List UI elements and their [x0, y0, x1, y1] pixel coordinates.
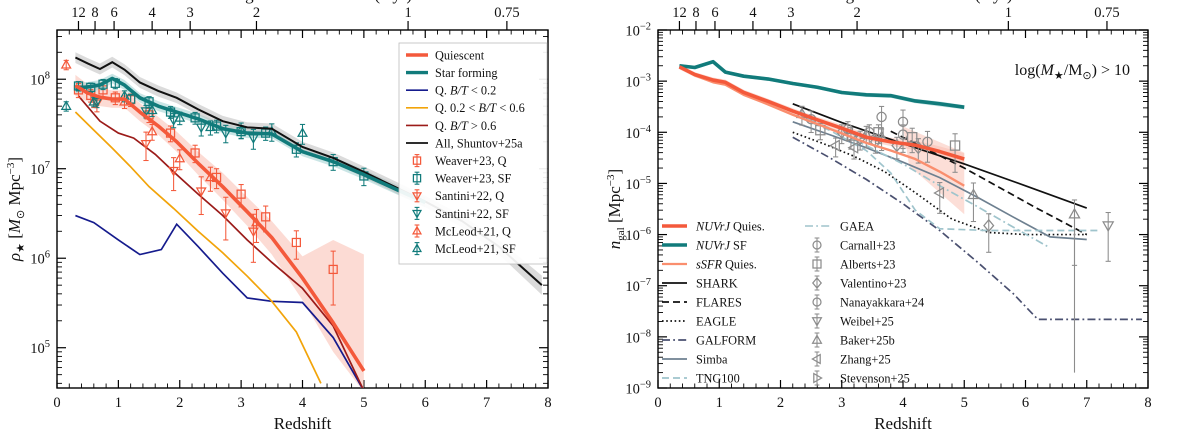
right-panel-xtick-label: 7 [1083, 395, 1090, 411]
points-weibel-25 [1103, 213, 1113, 262]
data-point [830, 141, 839, 151]
legend-label: Weaver+23, Q [435, 154, 507, 168]
left-panel-xtick-label: 3 [238, 395, 245, 411]
curve-gaea [793, 111, 1050, 248]
left-panel-xtick-label: 4 [299, 395, 307, 411]
legend-label: FLARES [696, 295, 742, 309]
legend-item-zhang+25[interactable]: Zhang+25 [812, 352, 890, 366]
right-panel-xtick-label: 5 [961, 395, 968, 411]
right-panel-ytick-label: 10−8 [625, 328, 651, 346]
legend-item-nanayakkara+24[interactable]: Nanayakkara+24 [813, 295, 924, 309]
right-panel-top-axis-title: Age of the Universe (Gyr) [833, 0, 1012, 4]
legend-marker [814, 374, 822, 383]
right-panel-ytick-label: 10−2 [625, 22, 651, 40]
right-panel-age-tick-label: 4 [749, 5, 757, 21]
legend-label: Valentino+23 [840, 276, 906, 290]
left-panel-age-tick-label: 8 [91, 5, 98, 21]
right-panel-ytick-label: 10−9 [625, 380, 651, 398]
legend-item-stevenson+25[interactable]: Stevenson+25 [814, 371, 910, 385]
right-panel-data [679, 60, 1141, 373]
curve-nuvrj-quiescent [679, 67, 964, 159]
right-panel-xtick-label: 2 [777, 395, 784, 411]
right-panel-legend: NUVrJ Quies.NUVrJ SFsSFR Quies.SHARKFLAR… [662, 219, 924, 385]
right-panel-xtick-label: 3 [838, 395, 845, 411]
left-panel-xtick-label: 8 [544, 395, 551, 411]
legend-label: Carnall+23 [840, 238, 895, 252]
legend-item-simba[interactable]: Simba [662, 352, 728, 366]
right-panel-xtick-label: 0 [654, 395, 661, 411]
right-panel-xtick-label: 8 [1144, 395, 1151, 411]
left-panel-age-tick-label: 3 [187, 5, 194, 21]
left-panel-ytick-label: 105 [30, 339, 50, 357]
legend-label: Santini+22, SF [435, 207, 509, 221]
left-panel-xtick-label: 6 [422, 395, 429, 411]
legend-label: EAGLE [696, 314, 736, 328]
legend-label: Stevenson+25 [840, 371, 910, 385]
legend-item-tng100[interactable]: TNG100 [662, 371, 740, 385]
legend-label: SHARK [696, 276, 738, 290]
legend-label: GAEA [840, 219, 874, 233]
right-panel-xtick-label: 1 [716, 395, 723, 411]
right-panel-ytick-label: 10−5 [625, 175, 651, 193]
left-panel-xtick-label: 1 [115, 395, 122, 411]
legend-item-nuvrj-quies.[interactable]: NUVrJ Quies. [662, 219, 765, 233]
left-panel-age-tick-label: 0.75 [494, 5, 519, 21]
right-panel-ytick-label: 10−4 [625, 124, 651, 142]
right-panel-age-tick-label: 0.75 [1094, 5, 1119, 21]
legend-label: Quiescent [435, 48, 485, 62]
right-panel-age-tick-label: 8 [692, 5, 699, 21]
legend-label: McLeod+21, SF [435, 242, 516, 256]
left-panel-xtick-label: 2 [176, 395, 183, 411]
right-panel-ytick-label: 10−7 [625, 277, 651, 295]
legend-label: NUVrJ Quies. [695, 219, 765, 233]
two-panel-figure: 012345678128643210.75105106107108Age of … [0, 0, 1200, 434]
legend-item-ssfr-quies.[interactable]: sSFR Quies. [662, 257, 757, 271]
legend-label: Alberts+23 [840, 257, 895, 271]
legend-marker [812, 355, 820, 364]
right-panel-xtick-label: 4 [899, 395, 907, 411]
legend-item-weibel+25[interactable]: Weibel+25 [813, 314, 894, 328]
legend-label: Zhang+25 [840, 352, 891, 366]
legend-item-carnall+23[interactable]: Carnall+23 [813, 238, 895, 252]
legend-label: Baker+25b [840, 333, 895, 347]
left-panel-xtick-label: 7 [483, 395, 490, 411]
left-panel-xtick-label: 0 [53, 395, 60, 411]
right-panel-yaxis-title: ngal [Mpc−3] [605, 169, 627, 249]
legend-label: Q. B/T < 0.2 [435, 84, 496, 98]
legend-item-nuvrj-sf[interactable]: NUVrJ SF [662, 238, 747, 252]
legend-item-gaea[interactable]: GAEA [805, 219, 874, 233]
legend-item-baker+25b[interactable]: Baker+25b [813, 333, 895, 347]
panel-right-number-density: 012345678128643210.7510−210−310−410−510−… [600, 0, 1200, 434]
right-panel-ytick-label: 10−6 [625, 226, 651, 244]
legend-label: Star forming [435, 66, 498, 80]
left-panel-top-axis-title: Age of the Universe (Gyr) [233, 0, 412, 4]
legend-label: sSFR Quies. [696, 257, 757, 271]
legend-label: Nanayakkara+24 [840, 295, 924, 309]
right-panel-svg: 012345678128643210.7510−210−310−410−510−… [600, 0, 1200, 434]
legend-item-galform[interactable]: GALFORM [662, 333, 756, 347]
legend-item-shark[interactable]: SHARK [662, 276, 738, 290]
legend-label: All, Shuntov+25a [435, 136, 523, 150]
legend-label: TNG100 [696, 371, 740, 385]
legend-item-flares[interactable]: FLARES [662, 295, 742, 309]
right-panel-ytick-label: 10−3 [625, 73, 651, 91]
left-panel-age-tick-label: 6 [110, 5, 117, 21]
left-panel-legend: QuiescentStar formingQ. B/T < 0.2Q. 0.2 … [399, 43, 547, 264]
right-panel-xtick-label: 6 [1022, 395, 1029, 411]
legend-item-valentino+23[interactable]: Valentino+23 [813, 276, 907, 290]
legend-label: Weibel+25 [840, 314, 894, 328]
right-panel-age-tick-label: 2 [853, 5, 860, 21]
right-panel-xaxis-title: Redshift [874, 414, 932, 433]
legend-label: Q. B/T > 0.6 [435, 119, 496, 133]
legend-label: NUVrJ SF [695, 238, 747, 252]
left-panel-ytick-label: 108 [30, 71, 50, 89]
left-panel-age-tick-label: 1 [404, 5, 411, 21]
legend-label: Santini+22, Q [435, 189, 504, 203]
right-panel-age-tick-label: 12 [672, 5, 687, 21]
left-panel-yaxis-title: ρ★ [M⊙ Mpc−3] [5, 157, 27, 262]
legend-label: Simba [696, 352, 728, 366]
left-panel-svg: 012345678128643210.75105106107108Age of … [0, 0, 600, 434]
left-panel-xtick-label: 5 [360, 395, 367, 411]
legend-label: McLeod+21, Q [435, 224, 511, 238]
legend-label: GALFORM [696, 333, 756, 347]
right-panel-age-tick-label: 1 [1005, 5, 1012, 21]
left-panel-age-tick-label: 12 [71, 5, 86, 21]
left-panel-xaxis-title: Redshift [274, 414, 332, 433]
left-panel-ytick-label: 107 [30, 160, 50, 178]
left-panel-age-tick-label: 4 [149, 5, 157, 21]
panel-left-stellar-mass-density: 012345678128643210.75105106107108Age of … [0, 0, 600, 434]
curve-q-b-t-0-6 [78, 96, 363, 391]
left-panel-ytick-label: 106 [30, 250, 50, 268]
legend-label: Q. 0.2 < B/T < 0.6 [435, 101, 525, 115]
legend-item-eagle[interactable]: EAGLE [662, 314, 736, 328]
legend-label: Weaver+23, SF [435, 172, 511, 186]
legend-item-alberts+23[interactable]: Alberts+23 [813, 257, 895, 271]
right-panel-age-tick-label: 3 [787, 5, 794, 21]
mass-cut-annotation: log(M★/M⊙) > 10 [1015, 62, 1130, 82]
right-panel-age-tick-label: 6 [711, 5, 718, 21]
left-panel-age-tick-label: 2 [253, 5, 260, 21]
